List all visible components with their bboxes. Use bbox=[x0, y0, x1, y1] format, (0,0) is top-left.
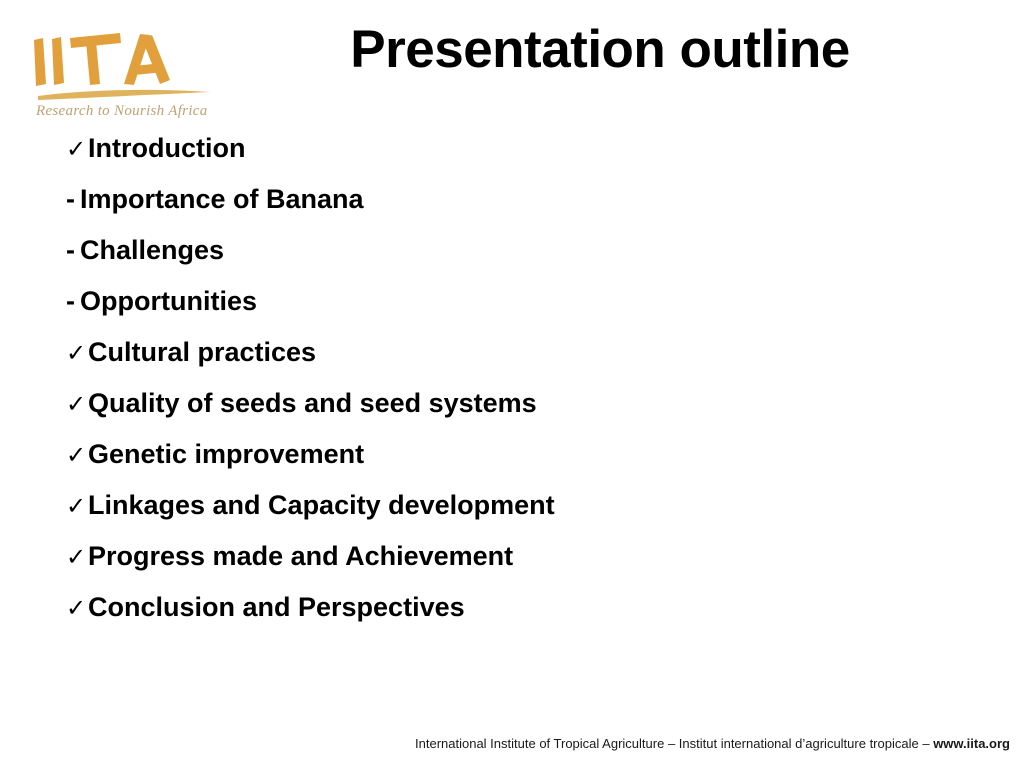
iita-logo-graphic: Research to Nourish Africa bbox=[24, 22, 224, 118]
outline-item-label: Importance of Banana bbox=[80, 184, 364, 215]
outline-item-label: Challenges bbox=[80, 235, 224, 266]
dash-icon: - bbox=[66, 237, 80, 264]
outline-item-label: Progress made and Achievement bbox=[88, 541, 513, 572]
check-icon: ✓ bbox=[66, 597, 88, 621]
list-item: ✓ Cultural practices bbox=[66, 337, 966, 388]
dash-icon: - bbox=[66, 186, 80, 213]
list-item: ✓ Introduction bbox=[66, 133, 966, 184]
check-icon: ✓ bbox=[66, 138, 88, 162]
check-icon: ✓ bbox=[66, 495, 88, 519]
footer-organization-fr: Institut international d’agriculture tro… bbox=[679, 736, 919, 751]
outline-item-label: Cultural practices bbox=[88, 337, 316, 368]
check-icon: ✓ bbox=[66, 342, 88, 366]
footer-organization-en: International Institute of Tropical Agri… bbox=[415, 736, 664, 751]
footer-website: www.iita.org bbox=[933, 736, 1010, 751]
outline-item-label: Opportunities bbox=[80, 286, 257, 317]
outline-item-label: Linkages and Capacity development bbox=[88, 490, 555, 521]
logo-tagline-text: Research to Nourish Africa bbox=[35, 103, 208, 118]
outline-item-label: Conclusion and Perspectives bbox=[88, 592, 465, 623]
check-icon: ✓ bbox=[66, 393, 88, 417]
slide-title: Presentation outline bbox=[250, 22, 950, 78]
outline-item-label: Introduction bbox=[88, 133, 245, 164]
check-icon: ✓ bbox=[66, 444, 88, 468]
list-item: - Challenges bbox=[66, 235, 966, 286]
list-item: ✓ Quality of seeds and seed systems bbox=[66, 388, 966, 439]
footer-separator: – bbox=[664, 736, 678, 751]
list-item: ✓ Progress made and Achievement bbox=[66, 541, 966, 592]
footer-separator: – bbox=[919, 736, 933, 751]
list-item: - Opportunities bbox=[66, 286, 966, 337]
list-item: ✓ Conclusion and Perspectives bbox=[66, 592, 966, 643]
list-item: ✓ Genetic improvement bbox=[66, 439, 966, 490]
logo-swoosh bbox=[38, 90, 210, 100]
outline-item-label: Genetic improvement bbox=[88, 439, 364, 470]
iita-wordmark-letters bbox=[34, 33, 170, 86]
outline-list: ✓ Introduction - Importance of Banana - … bbox=[66, 133, 966, 643]
dash-icon: - bbox=[66, 288, 80, 315]
slide-footer: International Institute of Tropical Agri… bbox=[0, 736, 1010, 751]
iita-logo: Research to Nourish Africa bbox=[24, 22, 224, 118]
list-item: - Importance of Banana bbox=[66, 184, 966, 235]
outline-item-label: Quality of seeds and seed systems bbox=[88, 388, 537, 419]
list-item: ✓ Linkages and Capacity development bbox=[66, 490, 966, 541]
check-icon: ✓ bbox=[66, 546, 88, 570]
presentation-slide: Research to Nourish Africa Presentation … bbox=[0, 0, 1024, 768]
